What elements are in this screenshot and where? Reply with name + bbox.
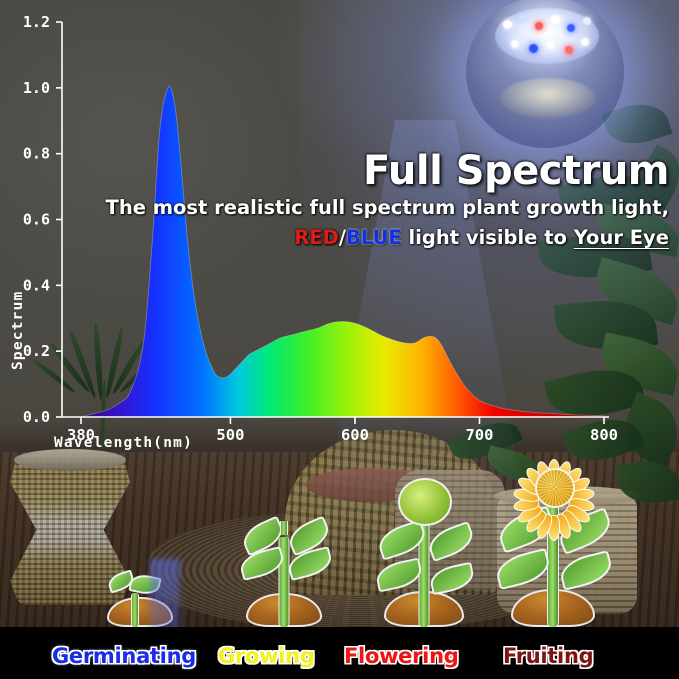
spectrum-fill [81, 22, 604, 417]
subtitle-middle-text: light visible to [402, 226, 574, 249]
word-separator: / [339, 226, 346, 249]
x-tick-label: 500 [216, 426, 244, 444]
word-blue: BLUE [346, 226, 402, 249]
y-tick-label: 1.2 [23, 13, 50, 31]
y-tick-labels: 0.00.20.40.60.81.01.2 [23, 13, 50, 426]
your-eye-underlined: Your Eye [574, 226, 669, 249]
y-tick-label: 1.0 [23, 79, 50, 97]
stage-label-fruiting: Fruiting [503, 644, 593, 668]
growth-stage-banner: Germinating Growing Flowering Fruiting [0, 627, 679, 679]
subtitle-line-1: The most realistic full spectrum plant g… [106, 196, 669, 219]
x-tick-label: 700 [465, 426, 493, 444]
stage-label-flowering: Flowering [344, 644, 458, 668]
plant-growing [234, 505, 334, 627]
x-axis-label: Wavelength(nm) [54, 435, 193, 451]
subtitle-line-2: RED/BLUE light visible to Your Eye [294, 226, 669, 249]
y-tick-label: 0.0 [23, 408, 50, 426]
x-tick-label: 800 [590, 426, 618, 444]
x-tick-label: 600 [341, 426, 369, 444]
y-axis-label: Spectrum [10, 291, 26, 370]
y-tick-label: 0.4 [23, 276, 50, 294]
plant-fruiting [494, 452, 612, 627]
stage-label-germinating: Germinating [52, 644, 196, 668]
y-tick-label: 0.6 [23, 211, 50, 229]
y-tick-label: 0.8 [23, 145, 50, 163]
y-tick-label: 0.2 [23, 342, 50, 360]
headline-full-spectrum: Full Spectrum [363, 148, 669, 194]
stage-label-growing: Growing [218, 644, 315, 668]
word-red: RED [294, 226, 339, 249]
promo-infographic: 0.00.20.40.60.81.01.2 380500600700800 Sp… [0, 0, 679, 679]
plant-flowering [372, 470, 476, 627]
